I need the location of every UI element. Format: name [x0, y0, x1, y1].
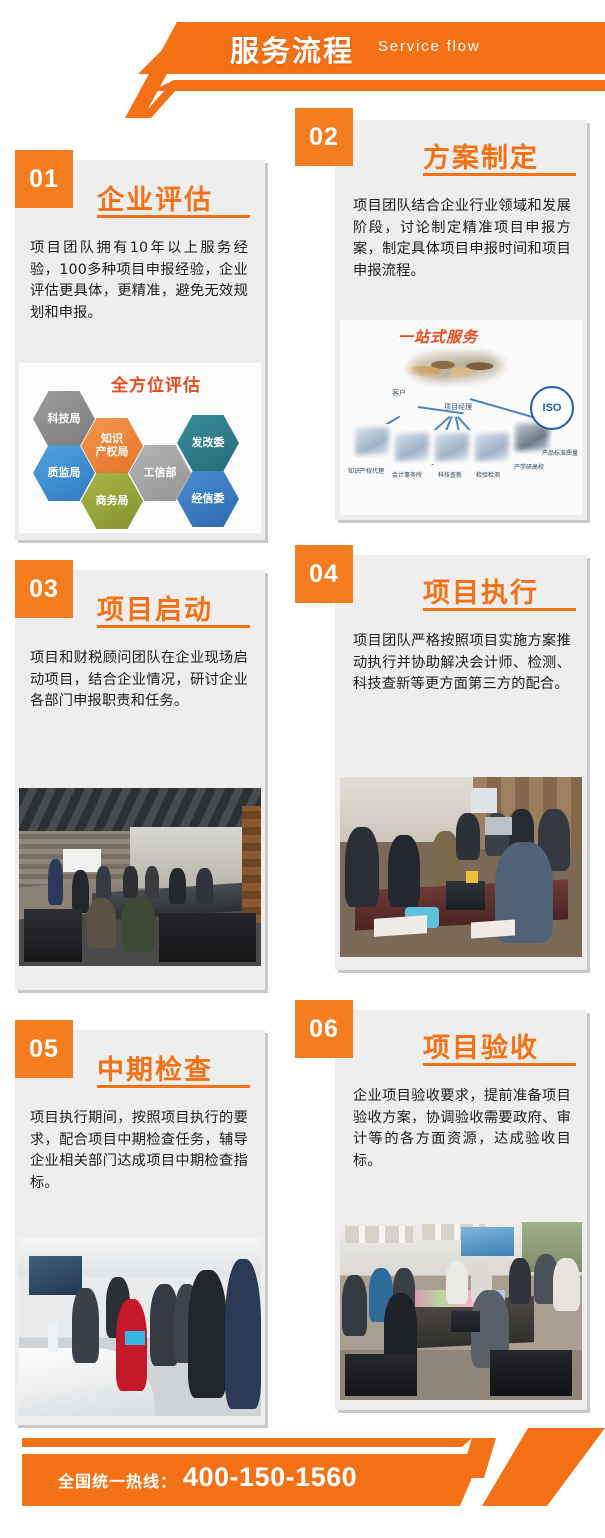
photo-chairs: [490, 1350, 572, 1396]
hex-node-label: 知识 产权局: [96, 433, 129, 458]
one-stop-center-label: 项目经理: [444, 402, 472, 412]
photo-person-foreground: [188, 1270, 227, 1398]
hexagon-chart: 全方位评估 科技局 知识 产权局 发改委 质监局 工信部 商务局 经信委: [19, 363, 261, 533]
one-stop-node-label: 检验检测: [476, 470, 500, 479]
one-stop-node-accounting: [392, 430, 432, 464]
one-stop-node-ip-agency: [352, 424, 392, 458]
photo-person: [446, 1261, 468, 1304]
hotline-number[interactable]: 400-150-1560: [183, 1462, 357, 1493]
photo-boardroom: [340, 1222, 582, 1400]
hex-node-fagai-wei: 发改委: [177, 415, 239, 471]
photo-certificates: [345, 1226, 413, 1244]
photo-chairs: [159, 913, 256, 963]
flow-arrow: [470, 398, 538, 419]
photo-brochure: [125, 1331, 144, 1345]
photo-showroom-visit: [19, 1238, 261, 1416]
photo-display-screen: [29, 1256, 82, 1295]
card-06-title-rule: [423, 1063, 576, 1066]
card-04-body: 项目团队严格按照项目实施方案推动执行并协助解决会计师、检测、科技查新等更方面第三…: [353, 631, 571, 696]
card-06-title: 项目验收: [423, 1026, 539, 1065]
one-stop-title: 一站式服务: [398, 326, 478, 347]
card-02-title: 方案制定: [423, 136, 539, 175]
page-footer: 全国统一热线： 400-150-1560: [0, 1428, 605, 1538]
photo-person: [72, 870, 89, 913]
photo-person-foreground: [121, 898, 155, 951]
hex-node-label: 质监局: [48, 467, 81, 480]
photo-papers: [471, 919, 515, 938]
photo-chairs: [345, 1354, 418, 1397]
hex-node-label: 商务局: [96, 495, 129, 508]
service-flow-poster: 服务流程 Service flow 企业评估 项目团队拥有10年以上服务经验，1…: [0, 0, 605, 1538]
one-stop-center-photo: [402, 346, 510, 388]
photo-person: [196, 868, 213, 904]
hotline-label: 全国统一热线：: [58, 1468, 177, 1492]
photo-person-foreground: [225, 1259, 261, 1409]
card-04-title-rule: [423, 608, 576, 611]
hex-node-label: 发改委: [192, 437, 225, 450]
card-01-body: 项目团队拥有10年以上服务经验，100多种项目申报经验，企业评估更具体，更精准，…: [30, 238, 248, 324]
iso-seal-icon: ISO: [530, 386, 574, 430]
card-04[interactable]: 项目执行 项目团队严格按照项目实施方案推动执行并协助解决会计师、检测、科技查新等…: [335, 555, 587, 970]
footer-top-bar: [22, 1438, 472, 1447]
one-stop-node-inspection: [472, 430, 512, 464]
page-subtitle: Service flow: [378, 38, 480, 55]
photo-person: [388, 835, 419, 907]
card-01-title: 企业评估: [97, 178, 213, 217]
photo-sticky-note: [466, 871, 478, 884]
card-02[interactable]: 方案制定 项目团队结合企业行业领域和发展阶段，讨论制定精准项目申报方案，制定具体…: [335, 120, 587, 520]
photo-person: [432, 831, 459, 885]
photo-chairs: [24, 909, 82, 962]
card-02-title-rule: [423, 173, 576, 176]
header-underline-bar: [152, 80, 605, 91]
one-stop-node-label: 科技查新: [438, 470, 462, 479]
photo-person: [72, 1288, 99, 1363]
photo-wood-panel: [242, 806, 261, 923]
page-header: 服务流程 Service flow: [0, 0, 605, 112]
photo-ac-unit: [471, 788, 498, 813]
one-stop-node-label: 会计事务所: [392, 470, 422, 479]
card-01-number-badge: 01: [15, 150, 73, 208]
photo-meeting-laptops: [340, 777, 582, 957]
card-06[interactable]: 项目验收 企业项目验收要求，提前准备项目验收方案，协调验收需要政府、审计等的各方…: [335, 1010, 587, 1410]
one-stop-node-label: 产学研高校: [514, 462, 544, 471]
card-03-title-rule: [97, 625, 250, 628]
page-title: 服务流程: [230, 28, 354, 70]
photo-person: [345, 827, 379, 906]
card-05-body: 项目执行期间，按照项目执行的要求，配合项目中期检查任务，辅导企业相关部门达成项目…: [30, 1108, 248, 1194]
card-01-title-rule: [97, 215, 250, 218]
photo-person: [145, 866, 160, 898]
photo-person: [48, 859, 63, 905]
card-03-body: 项目和财税顾问团队在企业现场启动项目，结合企业情况，研讨企业各部门申报职责和任务…: [30, 648, 248, 713]
photo-person: [456, 813, 480, 860]
card-05[interactable]: 中期检查 项目执行期间，按照项目执行的要求，配合项目中期检查任务，辅导企业相关部…: [15, 1030, 265, 1425]
header-banner: [138, 22, 605, 74]
photo-laptop: [451, 1311, 480, 1332]
card-05-title-rule: [97, 1085, 250, 1088]
card-04-title: 项目执行: [423, 571, 539, 610]
photo-person: [553, 1258, 580, 1311]
card-03[interactable]: 项目启动 项目和财税顾问团队在企业现场启动项目，结合企业情况，研讨企业各部门申报…: [15, 570, 265, 990]
photo-papers: [374, 916, 427, 938]
card-03-title: 项目启动: [97, 588, 213, 627]
card-06-number-badge: 06: [295, 1000, 353, 1058]
photo-conference-room: [19, 788, 261, 966]
card-03-number-badge: 03: [15, 560, 73, 618]
one-stop-node-label: 产品标准质量: [542, 448, 578, 457]
one-stop-service-diagram: 一站式服务 客户 项目经理 ISO 知识产权代理 会计事务所 科技查新 检验检测…: [340, 320, 582, 515]
card-01[interactable]: 企业评估 项目团队拥有10年以上服务经验，100多种项目申报经验，企业评估更具体…: [15, 160, 265, 540]
photo-projector-screen: [461, 1227, 514, 1255]
photo-person-red-coat: [116, 1299, 147, 1392]
photo-laptop: [446, 881, 485, 910]
one-stop-node-tech-search: [432, 430, 472, 464]
card-05-title: 中期检查: [97, 1048, 213, 1087]
photo-whiteboard: [63, 849, 102, 872]
hex-node-label: 工信部: [144, 467, 177, 480]
hex-node-label: 科技局: [48, 413, 81, 426]
one-stop-client-label: 客户: [392, 388, 406, 398]
photo-laptop: [485, 817, 512, 835]
photo-kiosk: [48, 1323, 58, 1351]
photo-person: [96, 866, 111, 902]
hex-node-label: 经信委: [192, 493, 225, 506]
card-02-number-badge: 02: [295, 108, 353, 166]
photo-person: [342, 1275, 366, 1336]
photo-person: [123, 866, 138, 898]
card-04-number-badge: 04: [295, 545, 353, 603]
photo-person: [509, 1258, 531, 1304]
hexagon-chart-title: 全方位评估: [111, 371, 201, 396]
photo-person-foreground: [87, 898, 116, 948]
card-05-number-badge: 05: [15, 1020, 73, 1078]
photo-person: [169, 868, 186, 904]
one-stop-node-label: 知识产权代理: [348, 466, 384, 475]
card-02-body: 项目团队结合企业行业领域和发展阶段，讨论制定精准项目申报方案，制定具体项目申报时…: [353, 196, 571, 282]
card-06-body: 企业项目验收要求，提前准备项目验收方案，协调验收需要政府、审计等的各方面资源，达…: [353, 1086, 571, 1172]
